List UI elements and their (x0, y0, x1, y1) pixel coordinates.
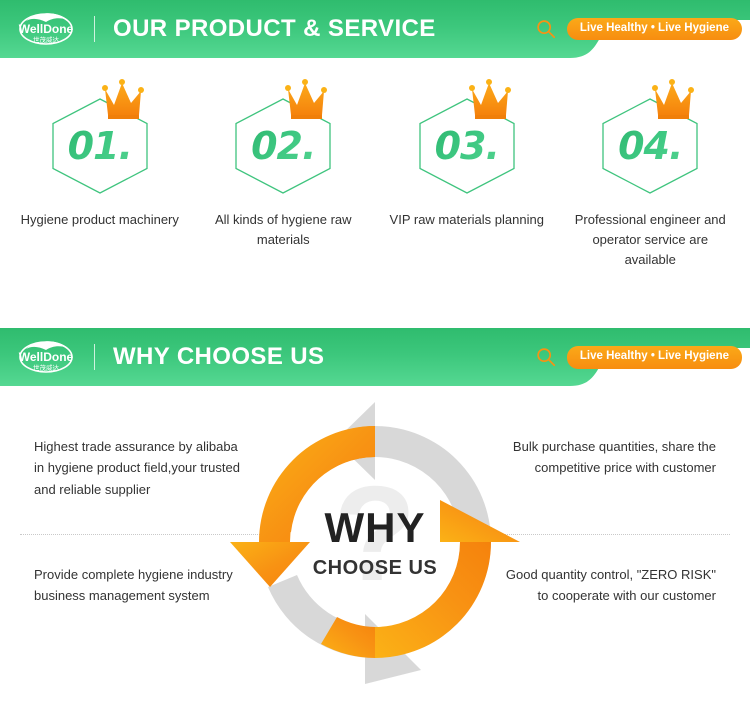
svg-text:WellDone: WellDone (19, 22, 74, 36)
crown-icon (281, 78, 333, 126)
brand-logo-2[interactable]: WellDone 世茂威达 (12, 337, 80, 377)
product-item-4[interactable]: 04. Professional engineer and operator s… (559, 80, 743, 270)
crown-icon (98, 78, 150, 126)
product-label-4: Professional engineer and operator servi… (570, 210, 730, 270)
crown-icon (465, 78, 517, 126)
tagline-badge-2[interactable]: Live Healthy • Live Hygiene (567, 346, 742, 369)
svg-text:WellDone: WellDone (19, 350, 74, 364)
swoosh-globe-logo-icon: WellDone 世茂威达 (12, 9, 80, 49)
why-title: WHY (325, 507, 426, 549)
crown-icon (648, 78, 700, 126)
swoosh-globe-logo-icon: WellDone 世茂威达 (12, 337, 80, 377)
why-choose-us-body: Highest trade assurance by alibaba in hy… (0, 386, 750, 704)
section-title: OUR PRODUCT & SERVICE (113, 15, 436, 43)
why-subtitle: CHOOSE US (313, 558, 438, 578)
product-label-1: Hygiene product machinery (21, 210, 179, 230)
header-right-group: Live Healthy • Live Hygiene (535, 0, 742, 58)
reason-bottom-right: Good quantity control, "ZERO RISK" to co… (501, 564, 716, 606)
product-hexagon-4: 04. (596, 80, 704, 196)
reason-top-left: Highest trade assurance by alibaba in hy… (34, 436, 249, 499)
reason-top-right: Bulk purchase quantities, share the comp… (501, 436, 716, 478)
section-header-bar: WellDone 世茂威达 OUR PRODUCT & SERVICE Live… (0, 0, 750, 58)
section-gap (0, 280, 750, 328)
svg-text:世茂威达: 世茂威达 (33, 35, 60, 44)
reason-bottom-left: Provide complete hygiene industry busine… (34, 564, 249, 606)
product-label-2: All kinds of hygiene raw materials (203, 210, 363, 250)
header-divider-2 (94, 344, 95, 370)
section-title-2: WHY CHOOSE US (113, 343, 324, 371)
page-root: WellDone 世茂威达 OUR PRODUCT & SERVICE Live… (0, 0, 750, 711)
search-icon[interactable] (535, 346, 557, 368)
section-header-bar-2: WellDone 世茂威达 WHY CHOOSE US Live Healthy… (0, 328, 750, 386)
search-icon[interactable] (535, 18, 557, 40)
section-our-product-and-service: WellDone 世茂威达 OUR PRODUCT & SERVICE Live… (0, 0, 750, 280)
product-list: 01. Hygiene product mac (0, 58, 750, 280)
svg-text:世茂威达: 世茂威达 (33, 363, 60, 372)
product-item-1[interactable]: 01. Hygiene product mac (8, 80, 192, 270)
product-item-3[interactable]: 03. VIP raw materials planning (375, 80, 559, 270)
header-divider (94, 16, 95, 42)
tagline-badge[interactable]: Live Healthy • Live Hygiene (567, 18, 742, 41)
brand-logo[interactable]: WellDone 世茂威达 (12, 9, 80, 49)
section-why-choose-us: WellDone 世茂威达 WHY CHOOSE US Live Healthy… (0, 328, 750, 704)
header-right-group-2: Live Healthy • Live Hygiene (535, 328, 742, 386)
product-hexagon-1: 01. (46, 80, 154, 196)
circular-arrows-diagram: ? WHY CHOOSE US (225, 392, 525, 692)
product-hexagon-2: 02. (229, 80, 337, 196)
product-label-3: VIP raw materials planning (390, 210, 544, 230)
product-hexagon-3: 03. (413, 80, 521, 196)
product-item-2[interactable]: 02. All kinds of hygiene raw materials (192, 80, 376, 270)
why-center-text: WHY CHOOSE US (225, 392, 525, 692)
